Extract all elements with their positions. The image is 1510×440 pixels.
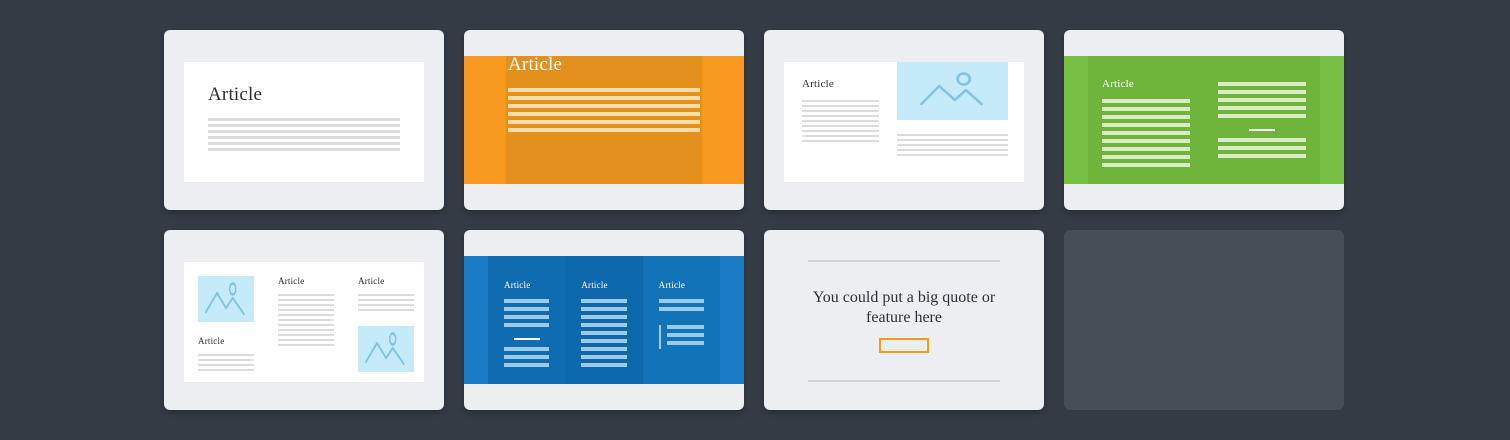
blockquote-lines (667, 325, 704, 349)
text-line (1102, 163, 1190, 167)
blue-band: Article Article (464, 256, 744, 384)
text-line (667, 341, 704, 345)
body-text-lines-top (504, 299, 549, 331)
column-3: Article (643, 256, 720, 384)
text-line (581, 307, 626, 311)
text-line (802, 110, 879, 112)
card-green-two-column[interactable]: Article (1064, 30, 1344, 210)
column-1: Article (488, 256, 565, 384)
right-column (897, 62, 1024, 182)
text-line (198, 364, 254, 366)
text-line (802, 135, 879, 137)
text-line (1218, 98, 1306, 102)
body-text-lines (897, 134, 1008, 159)
text-line (1102, 131, 1190, 135)
article-title: Article (581, 280, 626, 290)
mountain-photo-icon (897, 62, 1008, 120)
text-line (208, 148, 400, 151)
text-line (278, 309, 334, 311)
text-line (278, 324, 334, 326)
text-line (208, 130, 400, 133)
body-text-lines-bottom (1218, 138, 1306, 162)
text-line (897, 154, 1008, 156)
text-line (504, 347, 549, 351)
text-line (1102, 99, 1190, 103)
text-line (278, 329, 334, 331)
body-text-lines (581, 299, 626, 371)
template-gallery: Article Article (164, 30, 1344, 410)
text-line (504, 323, 549, 327)
text-line (1218, 90, 1306, 94)
body-text-lines (1102, 99, 1190, 171)
quote-text: You could put a big quote or feature her… (794, 288, 1014, 329)
article-title: Article (208, 84, 262, 106)
card-two-column-image[interactable]: Article (764, 30, 1044, 210)
blue-content-panel: Article Article (488, 256, 720, 384)
text-line (208, 136, 400, 139)
image-placeholder (897, 62, 1008, 120)
green-band: Article (1064, 56, 1344, 184)
text-line (659, 299, 704, 303)
text-line (198, 359, 254, 361)
green-content-panel: Article (1088, 56, 1320, 184)
article-sheet: Article Article (184, 262, 424, 382)
text-line (667, 325, 704, 329)
card-three-column-mixed[interactable]: Article Article (164, 230, 444, 410)
image-placeholder (358, 326, 414, 372)
text-line (1218, 114, 1306, 118)
article-title: Article (659, 280, 704, 290)
text-line (504, 355, 549, 359)
body-text-lines (508, 88, 700, 136)
text-line (802, 100, 879, 102)
article-title: Article (198, 336, 254, 346)
article-title: Article (278, 276, 334, 286)
card-empty-placeholder[interactable] (1064, 230, 1344, 410)
text-line (1102, 139, 1190, 143)
text-line (504, 307, 549, 311)
text-line (1218, 82, 1306, 86)
blockquote-rule (659, 325, 661, 349)
card-big-quote[interactable]: You could put a big quote or feature her… (764, 230, 1044, 410)
column-2: Article (264, 276, 344, 382)
column-2: Article (565, 256, 642, 384)
bottom-rule (808, 380, 1000, 382)
text-line (508, 128, 700, 132)
text-line (897, 149, 1008, 151)
article-title: Article (1102, 78, 1190, 90)
text-line (358, 294, 414, 296)
text-line (278, 294, 334, 296)
right-column (1204, 56, 1320, 184)
text-line (659, 307, 704, 311)
body-text-lines-top (1218, 82, 1306, 122)
cta-button[interactable] (879, 338, 929, 353)
text-line (508, 112, 700, 116)
text-line (504, 299, 549, 303)
body-text-lines (278, 294, 334, 349)
text-line (504, 363, 549, 367)
text-line (581, 299, 626, 303)
text-line (802, 115, 879, 117)
text-line (198, 354, 254, 356)
text-line (802, 105, 879, 107)
card-simple-article[interactable]: Article (164, 30, 444, 210)
text-line (1218, 154, 1306, 158)
text-line (667, 333, 704, 337)
divider-dash (514, 338, 540, 340)
mountain-photo-icon (358, 326, 414, 372)
text-line (581, 363, 626, 367)
text-line (208, 142, 400, 145)
text-line (1102, 107, 1190, 111)
text-line (802, 125, 879, 127)
body-text-lines (802, 100, 897, 145)
mountain-photo-icon (198, 276, 254, 322)
text-line (802, 140, 879, 142)
text-line (1218, 146, 1306, 150)
text-line (208, 118, 400, 121)
text-line (581, 315, 626, 319)
column-1: Article (184, 276, 264, 382)
blockquote (659, 325, 704, 349)
image-placeholder (198, 276, 254, 322)
text-line (504, 315, 549, 319)
text-line (198, 369, 254, 371)
article-title: Article (504, 280, 549, 290)
left-column: Article (1088, 56, 1204, 184)
text-line (358, 304, 414, 306)
column-3: Article (344, 276, 424, 382)
divider-dash (1249, 129, 1275, 131)
text-line (581, 339, 626, 343)
text-line (1102, 147, 1190, 151)
text-line (358, 309, 414, 311)
text-line (508, 120, 700, 124)
text-line (208, 124, 400, 127)
article-title: Article (508, 54, 562, 76)
text-line (508, 88, 700, 92)
text-line (508, 96, 700, 100)
top-rule (808, 260, 1000, 262)
body-text-lines (198, 354, 254, 374)
text-line (278, 334, 334, 336)
text-line (581, 347, 626, 351)
text-line (1218, 138, 1306, 142)
text-line (581, 331, 626, 335)
text-line (802, 120, 879, 122)
text-line (802, 130, 879, 132)
text-line (1102, 155, 1190, 159)
text-line (897, 139, 1008, 141)
body-text-lines (208, 118, 400, 154)
article-sheet: Article (784, 62, 1024, 182)
text-line (278, 304, 334, 306)
text-line (358, 299, 414, 301)
text-line (581, 323, 626, 327)
text-line (897, 144, 1008, 146)
text-line (897, 134, 1008, 136)
text-line (278, 339, 334, 341)
left-column: Article (784, 62, 897, 182)
article-title: Article (358, 276, 414, 286)
body-text-lines (358, 294, 414, 314)
article-title: Article (802, 78, 897, 90)
text-line (278, 319, 334, 321)
body-text-lines-bottom (504, 347, 549, 371)
text-line (278, 314, 334, 316)
text-line (278, 299, 334, 301)
text-line (1218, 106, 1306, 110)
text-line (508, 104, 700, 108)
body-text-lines (659, 299, 704, 315)
article-sheet: Article (184, 62, 424, 182)
text-line (1102, 123, 1190, 127)
text-line (581, 355, 626, 359)
card-orange-fullbleed[interactable]: Article (464, 30, 744, 210)
text-line (1102, 115, 1190, 119)
text-line (278, 344, 334, 346)
card-blue-three-column[interactable]: Article Article (464, 230, 744, 410)
